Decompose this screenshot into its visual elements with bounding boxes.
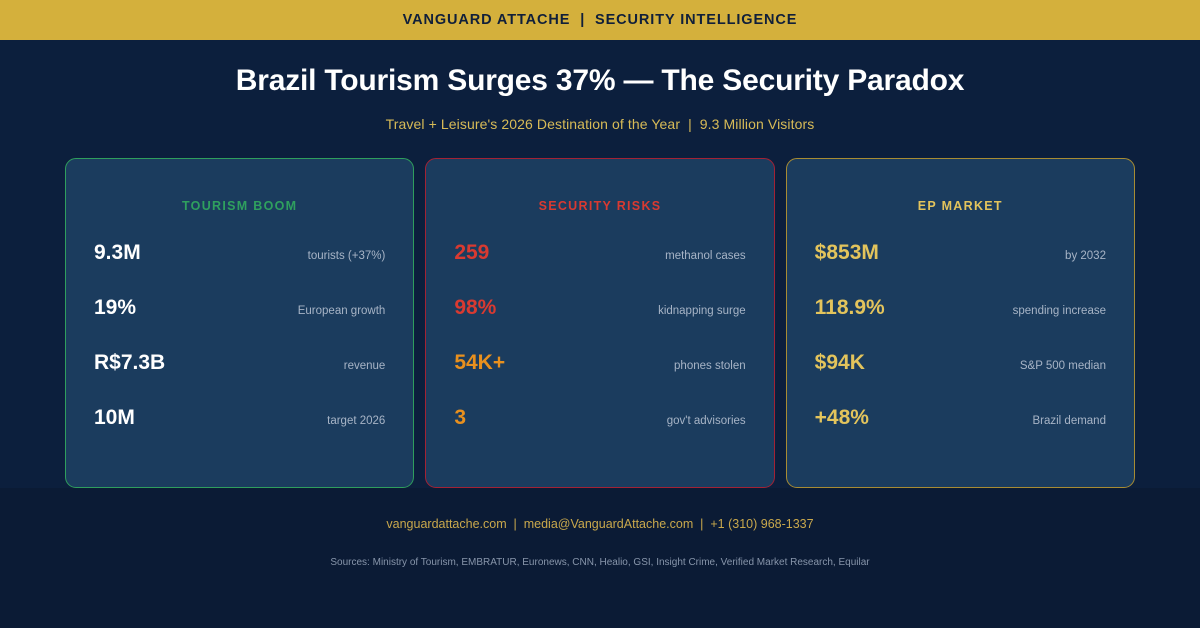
stat-card-security-risks: SECURITY RISKS 259 methanol cases 98% ki… <box>425 158 774 488</box>
stat-label: kidnapping surge <box>658 305 746 317</box>
stat-label: target 2026 <box>327 415 385 427</box>
banner-title: VANGUARD ATTACHE | SECURITY INTELLIGENCE <box>403 12 798 28</box>
stat-value: 3 <box>454 406 466 430</box>
stat-label: S&P 500 median <box>1020 360 1106 372</box>
stat-row: 54K+ phones stolen <box>454 351 745 406</box>
stat-value: 19% <box>94 296 136 320</box>
stat-value: 259 <box>454 241 489 265</box>
stat-value: +48% <box>815 406 869 430</box>
stat-row: 3 gov't advisories <box>454 406 745 461</box>
stat-value: 118.9% <box>815 296 885 320</box>
stat-label: revenue <box>344 360 386 372</box>
stat-value: 54K+ <box>454 351 505 375</box>
stat-card-tourism-boom: TOURISM BOOM 9.3M tourists (+37%) 19% Eu… <box>65 158 414 488</box>
stat-value: $94K <box>815 351 865 375</box>
card-title-ep-market: EP MARKET <box>815 199 1106 213</box>
stat-card-ep-market: EP MARKET $853M by 2032 118.9% spending … <box>786 158 1135 488</box>
stat-label: tourists (+37%) <box>308 250 386 262</box>
stat-label: gov't advisories <box>667 415 746 427</box>
top-banner: VANGUARD ATTACHE | SECURITY INTELLIGENCE <box>0 0 1200 40</box>
infographic-page: VANGUARD ATTACHE | SECURITY INTELLIGENCE… <box>0 0 1200 628</box>
stat-value: $853M <box>815 241 879 265</box>
stat-row: $94K S&P 500 median <box>815 351 1106 406</box>
stat-value: 10M <box>94 406 135 430</box>
stat-label: by 2032 <box>1065 250 1106 262</box>
stat-row: R$7.3B revenue <box>94 351 385 406</box>
stat-label: European growth <box>298 305 386 317</box>
stat-row: 118.9% spending increase <box>815 296 1106 351</box>
stat-row: +48% Brazil demand <box>815 406 1106 461</box>
footer: vanguardattache.com | media@VanguardAtta… <box>0 488 1200 628</box>
stat-label: phones stolen <box>674 360 746 372</box>
stat-row: $853M by 2032 <box>815 241 1106 296</box>
stat-row: 19% European growth <box>94 296 385 351</box>
card-title-tourism-boom: TOURISM BOOM <box>94 199 385 213</box>
stat-value: R$7.3B <box>94 351 165 375</box>
footer-sources-line: Sources: Ministry of Tourism, EMBRATUR, … <box>0 557 1200 568</box>
page-subtitle: Travel + Leisure's 2026 Destination of t… <box>0 116 1200 132</box>
card-title-security-risks: SECURITY RISKS <box>454 199 745 213</box>
stat-label: methanol cases <box>665 250 746 262</box>
stat-label: spending increase <box>1013 305 1106 317</box>
stat-label: Brazil demand <box>1032 415 1106 427</box>
header-block: Brazil Tourism Surges 37% — The Security… <box>0 40 1200 132</box>
stat-value: 9.3M <box>94 241 141 265</box>
stat-row: 259 methanol cases <box>454 241 745 296</box>
stat-row: 10M target 2026 <box>94 406 385 461</box>
stat-row: 9.3M tourists (+37%) <box>94 241 385 296</box>
stat-row: 98% kidnapping surge <box>454 296 745 351</box>
stat-cards-container: TOURISM BOOM 9.3M tourists (+37%) 19% Eu… <box>0 158 1200 488</box>
footer-contact-line[interactable]: vanguardattache.com | media@VanguardAtta… <box>0 517 1200 531</box>
stat-value: 98% <box>454 296 496 320</box>
page-title: Brazil Tourism Surges 37% — The Security… <box>0 64 1200 99</box>
